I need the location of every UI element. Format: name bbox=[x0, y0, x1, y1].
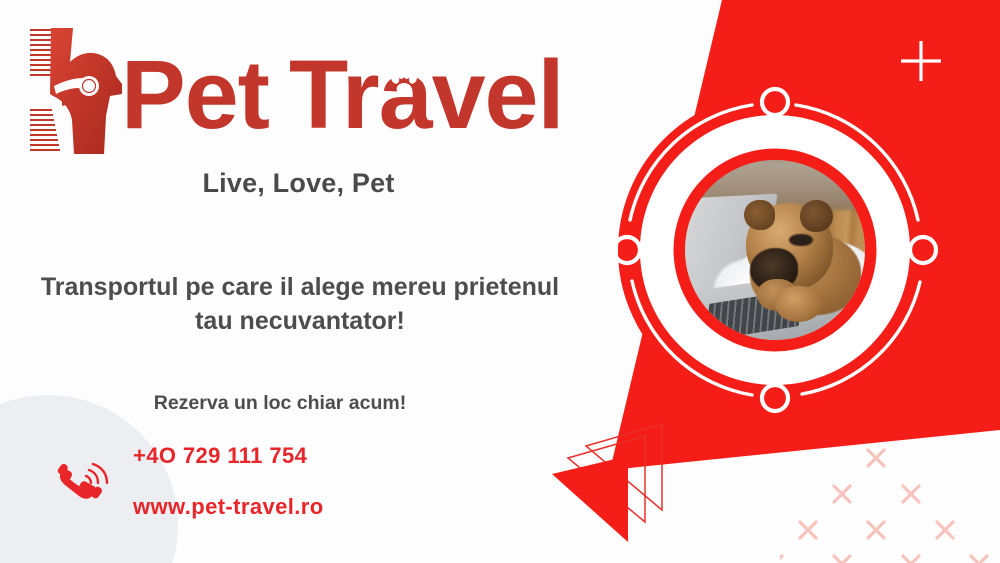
website-link[interactable]: www.pet-travel.ro bbox=[133, 494, 324, 520]
circular-photo-frame bbox=[600, 77, 950, 427]
svg-text:Pet: Pet bbox=[121, 40, 270, 149]
tagline: Live, Love, Pet bbox=[26, 168, 571, 199]
nested-triangles-icon bbox=[528, 414, 728, 563]
logo-wordmark: Pet Travel bbox=[121, 36, 581, 161]
puppy-photo bbox=[685, 160, 865, 340]
phone-ringing-icon[interactable] bbox=[52, 452, 114, 514]
logo: Pet Travel bbox=[26, 24, 571, 164]
headline: Transportul pe care il alege mereu priet… bbox=[20, 270, 580, 338]
phone-number[interactable]: +4O 729 111 754 bbox=[133, 443, 307, 469]
banner-canvas: Pet Travel Live, Love, Pet Transportul p… bbox=[0, 0, 1000, 563]
cta-label: Rezerva un loc chiar acum! bbox=[90, 392, 470, 415]
headline-line-2: tau necuvantator! bbox=[20, 304, 580, 338]
svg-text:Travel: Travel bbox=[289, 40, 563, 149]
headline-line-1: Transportul pe care il alege mereu priet… bbox=[20, 270, 580, 304]
x-dot-grid-icon bbox=[780, 432, 1000, 563]
